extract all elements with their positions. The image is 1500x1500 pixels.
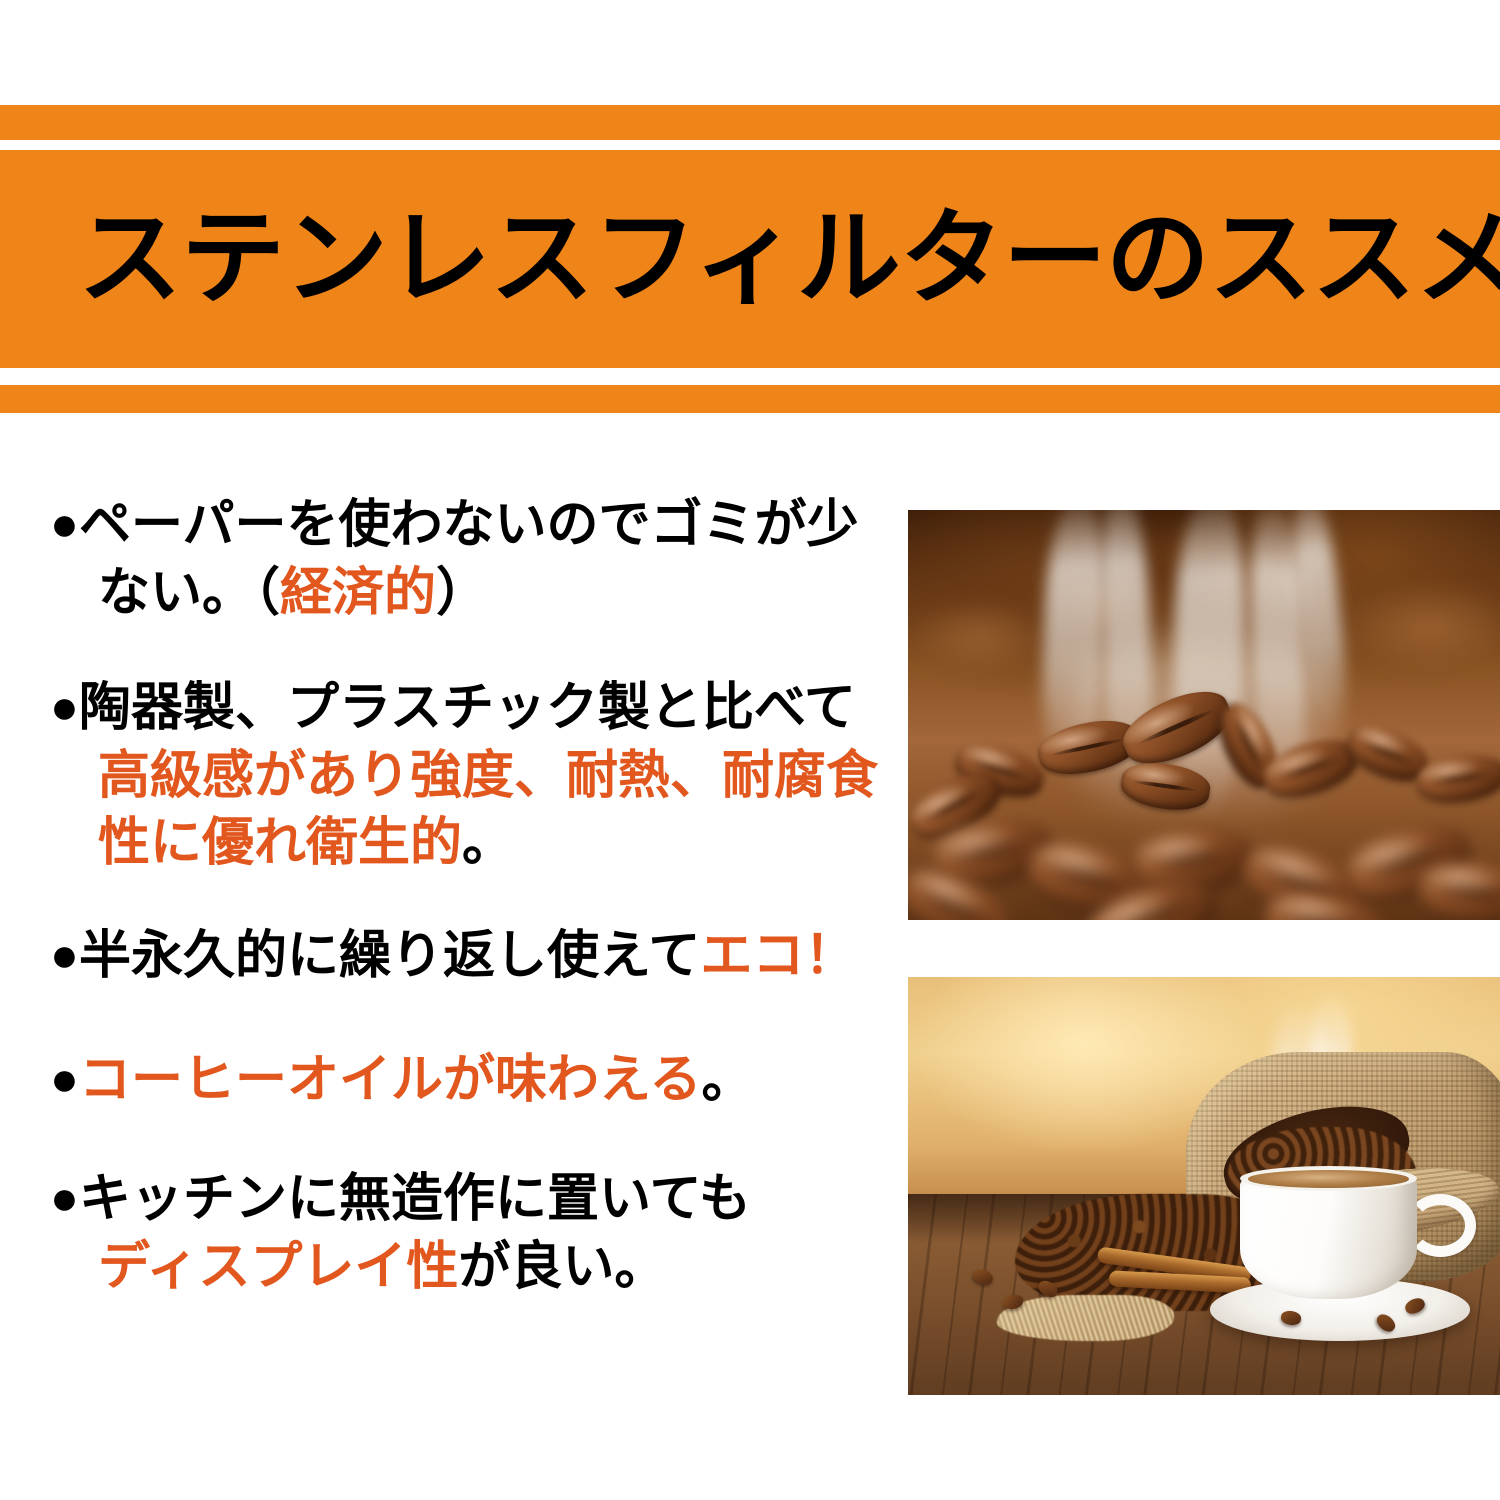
feature-1-line2-after: ） [436,564,488,622]
twine-bundle [997,1295,1175,1341]
header-banner: ステンレスフィルターのススメ！ [0,0,1500,413]
feature-2-line1: 陶器製、プラスチック製と比べて [79,679,856,737]
feature-item-coffee-oil: ●コーヒーオイルが味わえる。 [50,1047,895,1115]
feature-4-after: 。 [701,1051,753,1109]
feature-1-highlight: 経済的 [280,564,436,622]
feature-5-line2-after: が良い。 [458,1238,666,1296]
feature-item-material-quality: ●陶器製、プラスチック製と比べて 高級感があり強度、耐熱、耐腐食 性に優れ衛生的… [50,675,895,878]
bullet-dot-icon: ● [50,681,79,734]
feature-item-eco-waste: ●ペーパーを使わないのでゴミが少 ない。（経済的） [50,492,895,627]
banner-stripe-bottom [0,385,1500,413]
page-title: ステンレスフィルターのススメ！ [78,150,1448,368]
feature-4-highlight: コーヒーオイルが味わえる [79,1051,701,1109]
feature-2-line3-after: 。 [462,814,514,872]
feature-item-reusable: ●半永久的に繰り返し使えてエコ！ [50,923,895,991]
coffee-surface [1248,1170,1409,1188]
feature-2-highlight-b: 性に優れ衛生的 [98,814,462,872]
banner-stripe-top [0,105,1500,140]
bullet-dot-icon: ● [50,1053,79,1106]
coffee-cup [1240,1173,1418,1298]
feature-3-line1: 半永久的に繰り返し使えて [79,927,700,985]
bullet-dot-icon: ● [50,498,79,551]
feature-5-line1: キッチンに無造作に置いても [79,1170,751,1228]
feature-3-highlight: エコ！ [700,927,856,985]
feature-item-display: ●キッチンに無造作に置いても ディスプレイ性が良い。 [50,1166,895,1301]
feature-1-line2-before: ない。（ [98,564,280,622]
photo-roasted-coffee-beans-with-steam [908,510,1500,920]
bullet-dot-icon: ● [50,1172,79,1225]
feature-5-highlight: ディスプレイ性 [98,1238,458,1296]
feature-1-line1: ペーパーを使わないのでゴミが少 [79,496,858,554]
feature-2-highlight-a: 高級感があり強度、耐熱、耐腐食 [98,747,878,805]
photo-coffee-cup-with-burlap-sack [908,977,1500,1395]
features-list: ●ペーパーを使わないのでゴミが少 ない。（経済的） ●陶器製、プラスチック製と比… [50,492,895,1331]
bullet-dot-icon: ● [50,929,79,982]
